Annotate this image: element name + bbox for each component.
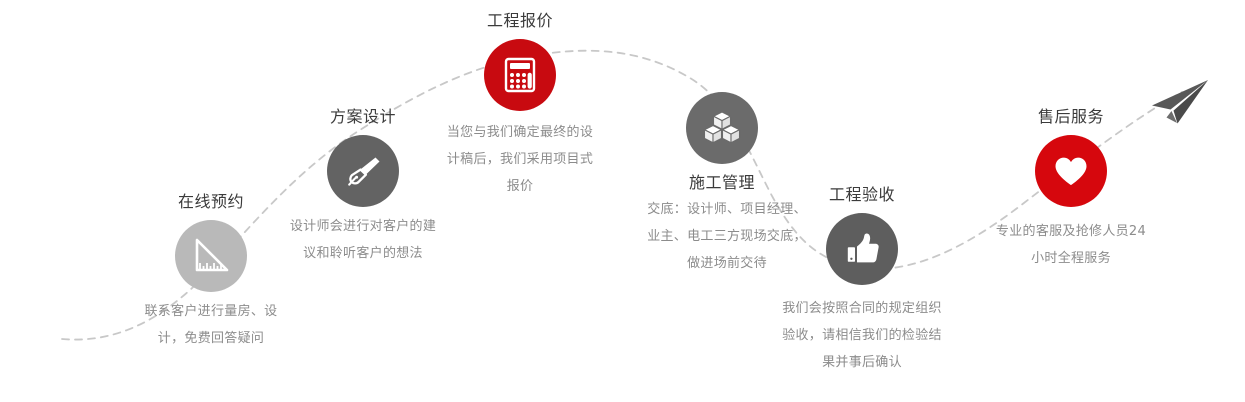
step-title: 方案设计 <box>283 106 443 128</box>
calculator-icon <box>499 54 541 96</box>
step-icon-circle[interactable] <box>484 39 556 111</box>
step-description: 我们会按照合同的规定组织验收，请相信我们的检验结果并事后确认 <box>782 295 942 376</box>
step-description: 联系客户进行量房、设计，免费回答疑问 <box>136 298 286 352</box>
step-description: 专业的客服及抢修人员24小时全程服务 <box>993 218 1149 272</box>
thumbs-up-icon <box>841 228 883 270</box>
step-icon-wrap <box>131 220 291 292</box>
process-step-1[interactable]: 在线预约 联系客户进行量房、设计，免费回答疑问 <box>131 191 291 352</box>
step-icon-wrap <box>782 213 942 285</box>
step-icon-wrap <box>283 135 443 207</box>
step-description: 设计师会进行对客户的建议和聆听客户的想法 <box>287 213 439 267</box>
heart-icon <box>1050 150 1092 192</box>
process-step-4[interactable]: 施工管理 交底：设计师、项目经理、业主、电工三方现场交底，做进场前交待 <box>642 92 802 277</box>
process-step-3[interactable]: 工程报价 <box>440 10 600 200</box>
process-step-2[interactable]: 方案设计 设计师会进行对客户的建议和聆听客户的想法 <box>283 106 443 267</box>
step-icon-wrap <box>991 135 1151 207</box>
step-title: 在线预约 <box>131 191 291 213</box>
step-title: 工程报价 <box>440 10 600 32</box>
fountain-pen-icon <box>342 150 384 192</box>
step-description: 当您与我们确定最终的设计稿后，我们采用项目式报价 <box>444 119 596 200</box>
step-icon-circle[interactable] <box>175 220 247 292</box>
step-title: 售后服务 <box>991 106 1151 128</box>
step-icon-circle[interactable] <box>826 213 898 285</box>
step-icon-wrap <box>642 92 802 164</box>
step-title: 工程验收 <box>782 184 942 206</box>
process-step-6[interactable]: 售后服务 专业的客服及抢修人员24小时全程服务 <box>991 106 1151 272</box>
step-title: 施工管理 <box>642 172 802 194</box>
process-step-5[interactable]: 工程验收 我们会按照合同的规定组织验收，请相信我们的检验结果并事后确认 <box>782 184 942 376</box>
step-icon-circle[interactable] <box>686 92 758 164</box>
step-icon-circle[interactable] <box>327 135 399 207</box>
ruler-triangle-icon <box>189 234 233 278</box>
process-flow-diagram: 在线预约 联系客户进行量房、设计，免费回答疑问 <box>0 0 1245 402</box>
step-icon-wrap <box>440 39 600 111</box>
step-icon-circle[interactable] <box>1035 135 1107 207</box>
blocks-cubes-icon <box>700 106 744 150</box>
paper-plane-icon <box>1148 78 1210 126</box>
